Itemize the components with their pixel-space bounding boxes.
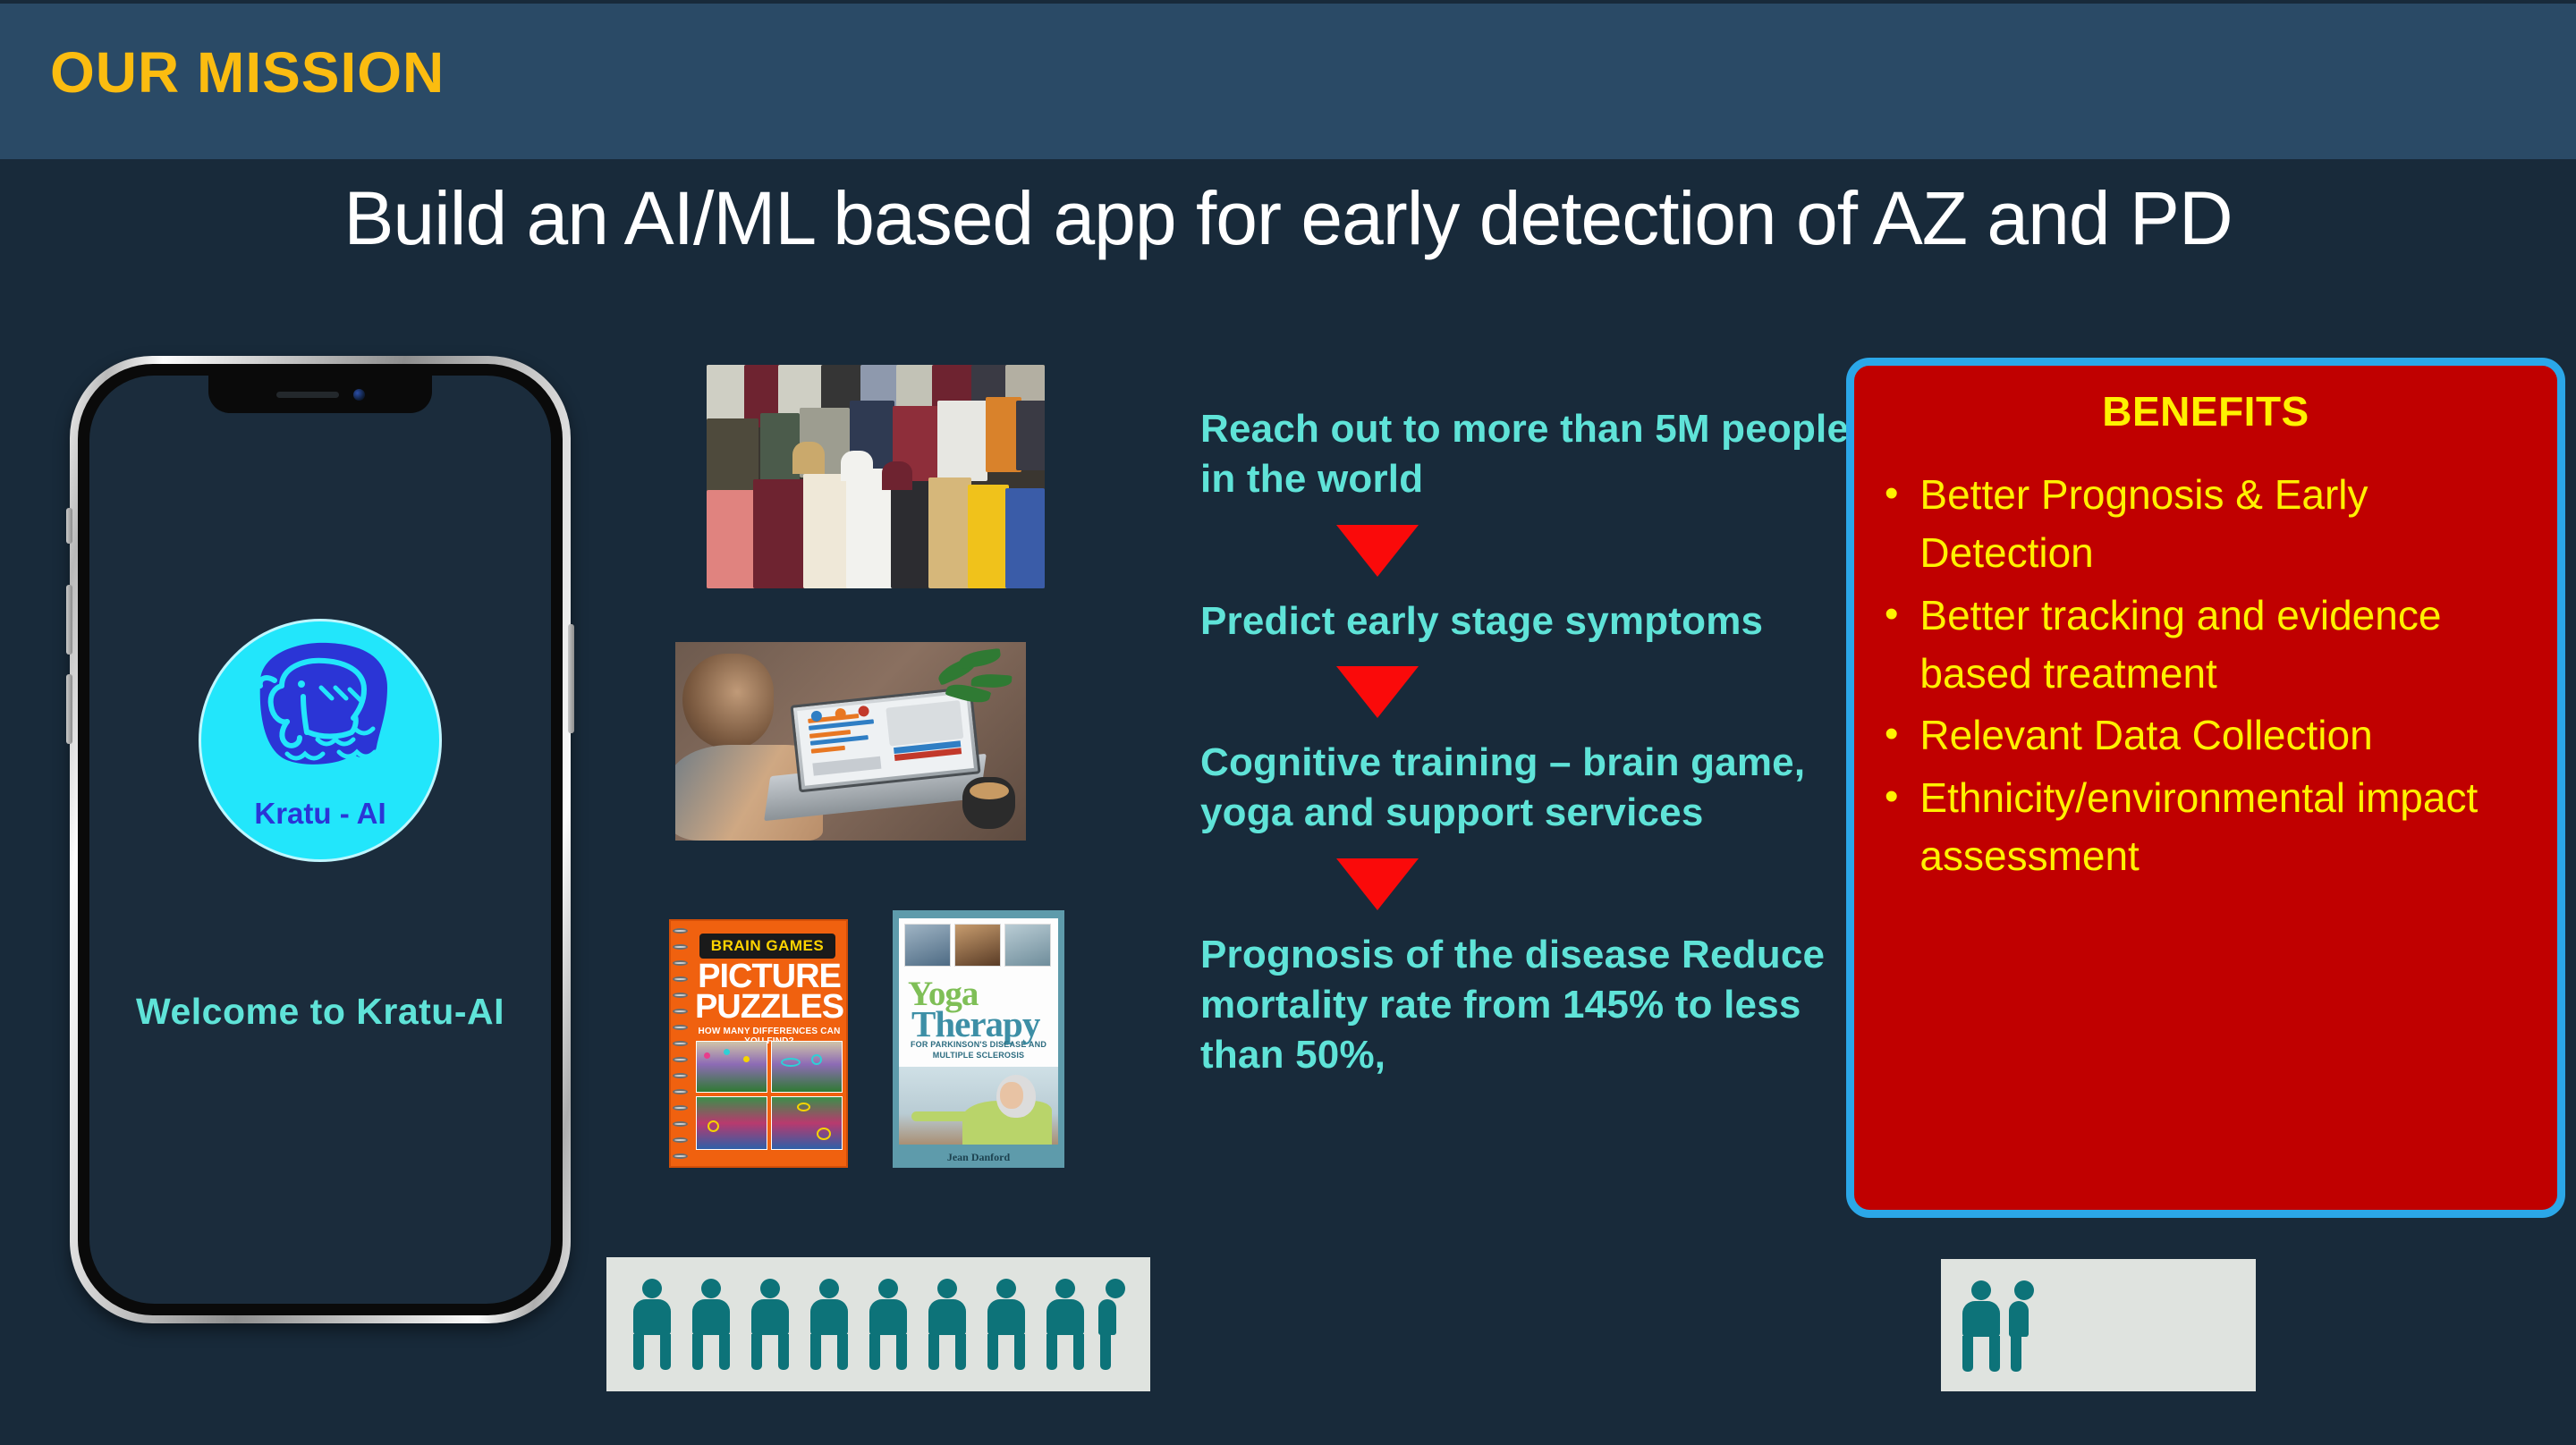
benefit-label: Better Prognosis & Early Detection xyxy=(1919,466,2534,583)
person-icon xyxy=(862,1279,914,1372)
benefit-list-item: • Better tracking and evidence based tre… xyxy=(1877,587,2534,704)
flow-arrow-down-icon xyxy=(1336,525,1419,577)
brain-games-title-line2: PUZZLES xyxy=(694,991,844,1023)
welcome-message: Welcome to Kratu-AI xyxy=(89,991,551,1033)
benefit-list-item: • Relevant Data Collection xyxy=(1877,706,2534,765)
plant-decoration xyxy=(928,646,1019,729)
elephant-icon xyxy=(235,636,405,788)
puzzle-photo-1 xyxy=(696,1041,767,1093)
person-icon xyxy=(626,1279,678,1372)
benefit-label: Better tracking and evidence based treat… xyxy=(1919,587,2534,704)
puzzle-photo-3 xyxy=(696,1096,767,1150)
brain-games-book-cover: BRAIN GAMES PICTURE PUZZLES HOW MANY DIF… xyxy=(669,919,848,1168)
flow-step-4: Prognosis of the disease Reduce mortalit… xyxy=(1200,930,1880,1081)
yoga-photo-1 xyxy=(904,924,951,967)
slide-canvas: OUR MISSION Build an AI/ML based app for… xyxy=(0,0,2576,1445)
yoga-face-shape xyxy=(1000,1082,1023,1109)
person-icon xyxy=(980,1279,1032,1372)
person-icon xyxy=(685,1279,737,1372)
page-title: OUR MISSION xyxy=(50,39,445,106)
brain-games-logo: BRAIN GAMES xyxy=(699,934,835,959)
yoga-cover-inner: Yoga Therapy FOR PARKINSON'S DISEASE AND… xyxy=(899,918,1058,1145)
flow-step-2: Predict early stage symptoms xyxy=(1200,596,1880,646)
coffee-surface xyxy=(970,782,1010,800)
person-icon xyxy=(803,1279,855,1372)
person-icon xyxy=(1955,1280,2007,1373)
yoga-cover-photo xyxy=(899,1067,1058,1145)
yoga-subtitle: FOR PARKINSON'S DISEASE AND MULTIPLE SCL… xyxy=(906,1040,1051,1061)
person-icon xyxy=(921,1279,973,1372)
speaker-grille-icon xyxy=(276,392,339,398)
benefit-label: Relevant Data Collection xyxy=(1919,706,2372,765)
benefits-title: BENEFITS xyxy=(1877,387,2534,435)
header-band: OUR MISSION xyxy=(0,4,2576,159)
flow-step-3: Cognitive training – brain game, yoga an… xyxy=(1200,738,1880,839)
bullet-icon: • xyxy=(1877,466,1898,521)
people-pictogram-large xyxy=(606,1257,1150,1391)
spiral-binding-icon xyxy=(671,921,691,1166)
slide-title: Build an AI/ML based app for early detec… xyxy=(0,175,2576,262)
benefit-list-item: • Ethnicity/environmental impact assessm… xyxy=(1877,769,2534,886)
bullet-icon: • xyxy=(1877,769,1898,824)
flow-arrow-down-icon xyxy=(1336,858,1419,910)
phone-screen: Kratu - AI Welcome to Kratu-AI xyxy=(89,376,551,1304)
process-flow: Reach out to more than 5M people in the … xyxy=(1200,404,1880,1081)
benefits-panel: BENEFITS • Better Prognosis & Early Dete… xyxy=(1846,358,2565,1218)
yoga-therapy-book-cover: Yoga Therapy FOR PARKINSON'S DISEASE AND… xyxy=(893,910,1064,1168)
yoga-author-name: Jean Danford xyxy=(893,1151,1064,1164)
yoga-photo-3 xyxy=(1004,924,1051,967)
flow-arrow-down-icon xyxy=(1336,666,1419,718)
people-pictogram-small xyxy=(1941,1259,2256,1391)
person-icon-partial xyxy=(1098,1279,1150,1372)
yoga-photo-2 xyxy=(954,924,1001,967)
bullet-icon: • xyxy=(1877,587,1898,642)
coffee-cup xyxy=(962,777,1015,829)
puzzle-photo-2 xyxy=(771,1041,843,1093)
yoga-title-line2: Therapy xyxy=(911,1002,1039,1045)
person-icon-partial xyxy=(2009,1280,2061,1373)
phone-mute-switch[interactable] xyxy=(66,508,72,544)
puzzle-photo-4 xyxy=(771,1096,843,1150)
benefit-label: Ethnicity/environmental impact assessmen… xyxy=(1919,769,2534,886)
person-icon xyxy=(1039,1279,1091,1372)
phone-notch xyxy=(208,376,432,413)
phone-mockup: Kratu - AI Welcome to Kratu-AI xyxy=(70,356,571,1323)
front-camera-icon xyxy=(353,389,365,401)
app-logo-label: Kratu - AI xyxy=(201,797,439,831)
crowd-photo xyxy=(707,365,1045,588)
brain-games-logo-label: BRAIN GAMES xyxy=(711,937,824,955)
app-logo[interactable]: Kratu - AI xyxy=(199,619,442,862)
analytics-photo xyxy=(675,642,1026,841)
phone-volume-down-button[interactable] xyxy=(66,674,72,744)
person-icon xyxy=(744,1279,796,1372)
phone-bezel: Kratu - AI Welcome to Kratu-AI xyxy=(78,364,563,1315)
flow-step-1: Reach out to more than 5M people in the … xyxy=(1200,404,1880,505)
phone-volume-up-button[interactable] xyxy=(66,585,72,655)
person-head-shape xyxy=(682,654,774,749)
benefit-list-item: • Better Prognosis & Early Detection xyxy=(1877,466,2534,583)
bullet-icon: • xyxy=(1877,706,1898,762)
phone-power-button[interactable] xyxy=(568,624,574,733)
